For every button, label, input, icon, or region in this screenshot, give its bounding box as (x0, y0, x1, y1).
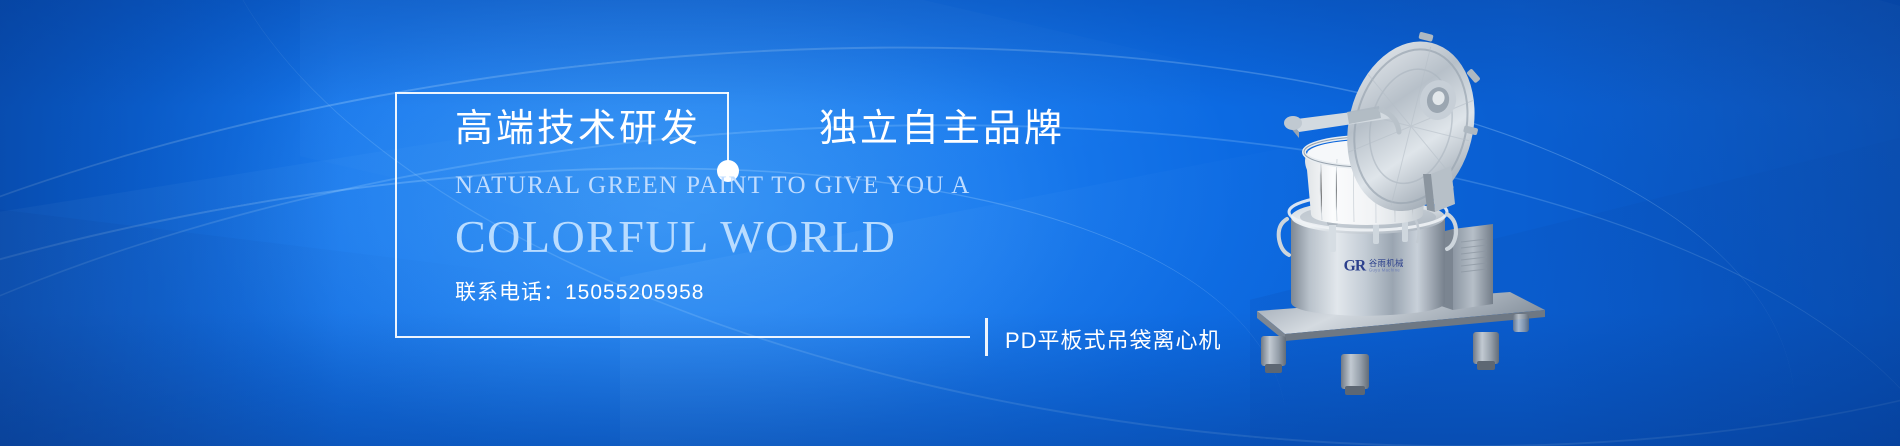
logo-monogram: GR (1344, 258, 1366, 274)
logo-name-en: Guyu Machine (1369, 269, 1404, 273)
logo-name-cn: 谷雨机械 (1369, 258, 1404, 268)
tagline-line-1: NATURAL GREEN PAINT TO GIVE YOU A (455, 173, 1215, 198)
headline-part2: 独立自主品牌 (819, 110, 1065, 148)
promo-banner: 高端技术研发 独立自主品牌 NATURAL GREEN PAINT TO GIV… (0, 0, 1900, 446)
copy-block: 高端技术研发 独立自主品牌 NATURAL GREEN PAINT TO GIV… (455, 110, 1215, 303)
product-caption: PD平板式吊袋离心机 (1005, 323, 1222, 355)
headline-part1: 高端技术研发 (455, 110, 701, 148)
tagline-line-2: COLORFUL WORLD (455, 214, 1215, 260)
contact-phone: 联系电话：15055205958 (455, 282, 1215, 303)
caption-tick (985, 318, 988, 356)
headline: 高端技术研发 独立自主品牌 (455, 110, 1215, 148)
caption-rule (729, 336, 970, 338)
brand-logo: GR 谷雨机械 Guyu Machine (1344, 258, 1404, 274)
product-image-centrifuge: GR 谷雨机械 Guyu Machine (1255, 14, 1585, 396)
